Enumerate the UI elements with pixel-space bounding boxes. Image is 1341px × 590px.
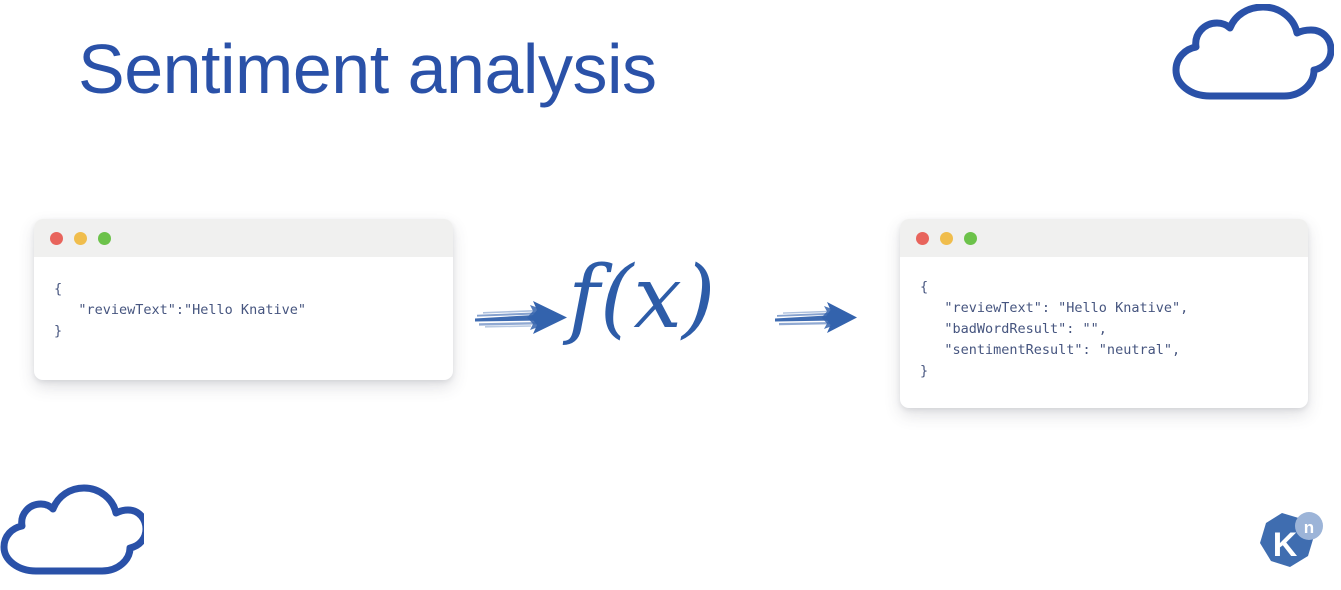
maximize-dot-icon[interactable] [98,232,111,245]
window-titlebar[interactable] [900,219,1308,257]
minimize-dot-icon[interactable] [940,232,953,245]
input-json-code: { "reviewText":"Hello Knative" } [54,279,433,342]
knative-logo: n K [1256,511,1324,575]
function-label: f(x) [568,255,715,341]
cloud-icon-top-right [1168,4,1334,113]
close-dot-icon[interactable] [50,232,63,245]
input-payload-window[interactable]: { "reviewText":"Hello Knative" } [34,219,453,380]
window-body: { "reviewText":"Hello Knative" } [34,257,453,362]
knative-badge-letter: n [1304,518,1314,537]
arrow-function-to-output-icon [773,298,859,345]
arrow-input-to-function-icon [473,296,569,345]
close-dot-icon[interactable] [916,232,929,245]
minimize-dot-icon[interactable] [74,232,87,245]
cloud-icon-bottom-left [0,483,144,590]
output-payload-window[interactable]: { "reviewText": "Hello Knative", "badWor… [900,219,1308,408]
maximize-dot-icon[interactable] [964,232,977,245]
knative-primary-letter: K [1273,526,1298,564]
window-body: { "reviewText": "Hello Knative", "badWor… [900,257,1308,402]
output-json-code: { "reviewText": "Hello Knative", "badWor… [920,277,1288,382]
page-title: Sentiment analysis [78,31,657,108]
window-titlebar[interactable] [34,219,453,257]
